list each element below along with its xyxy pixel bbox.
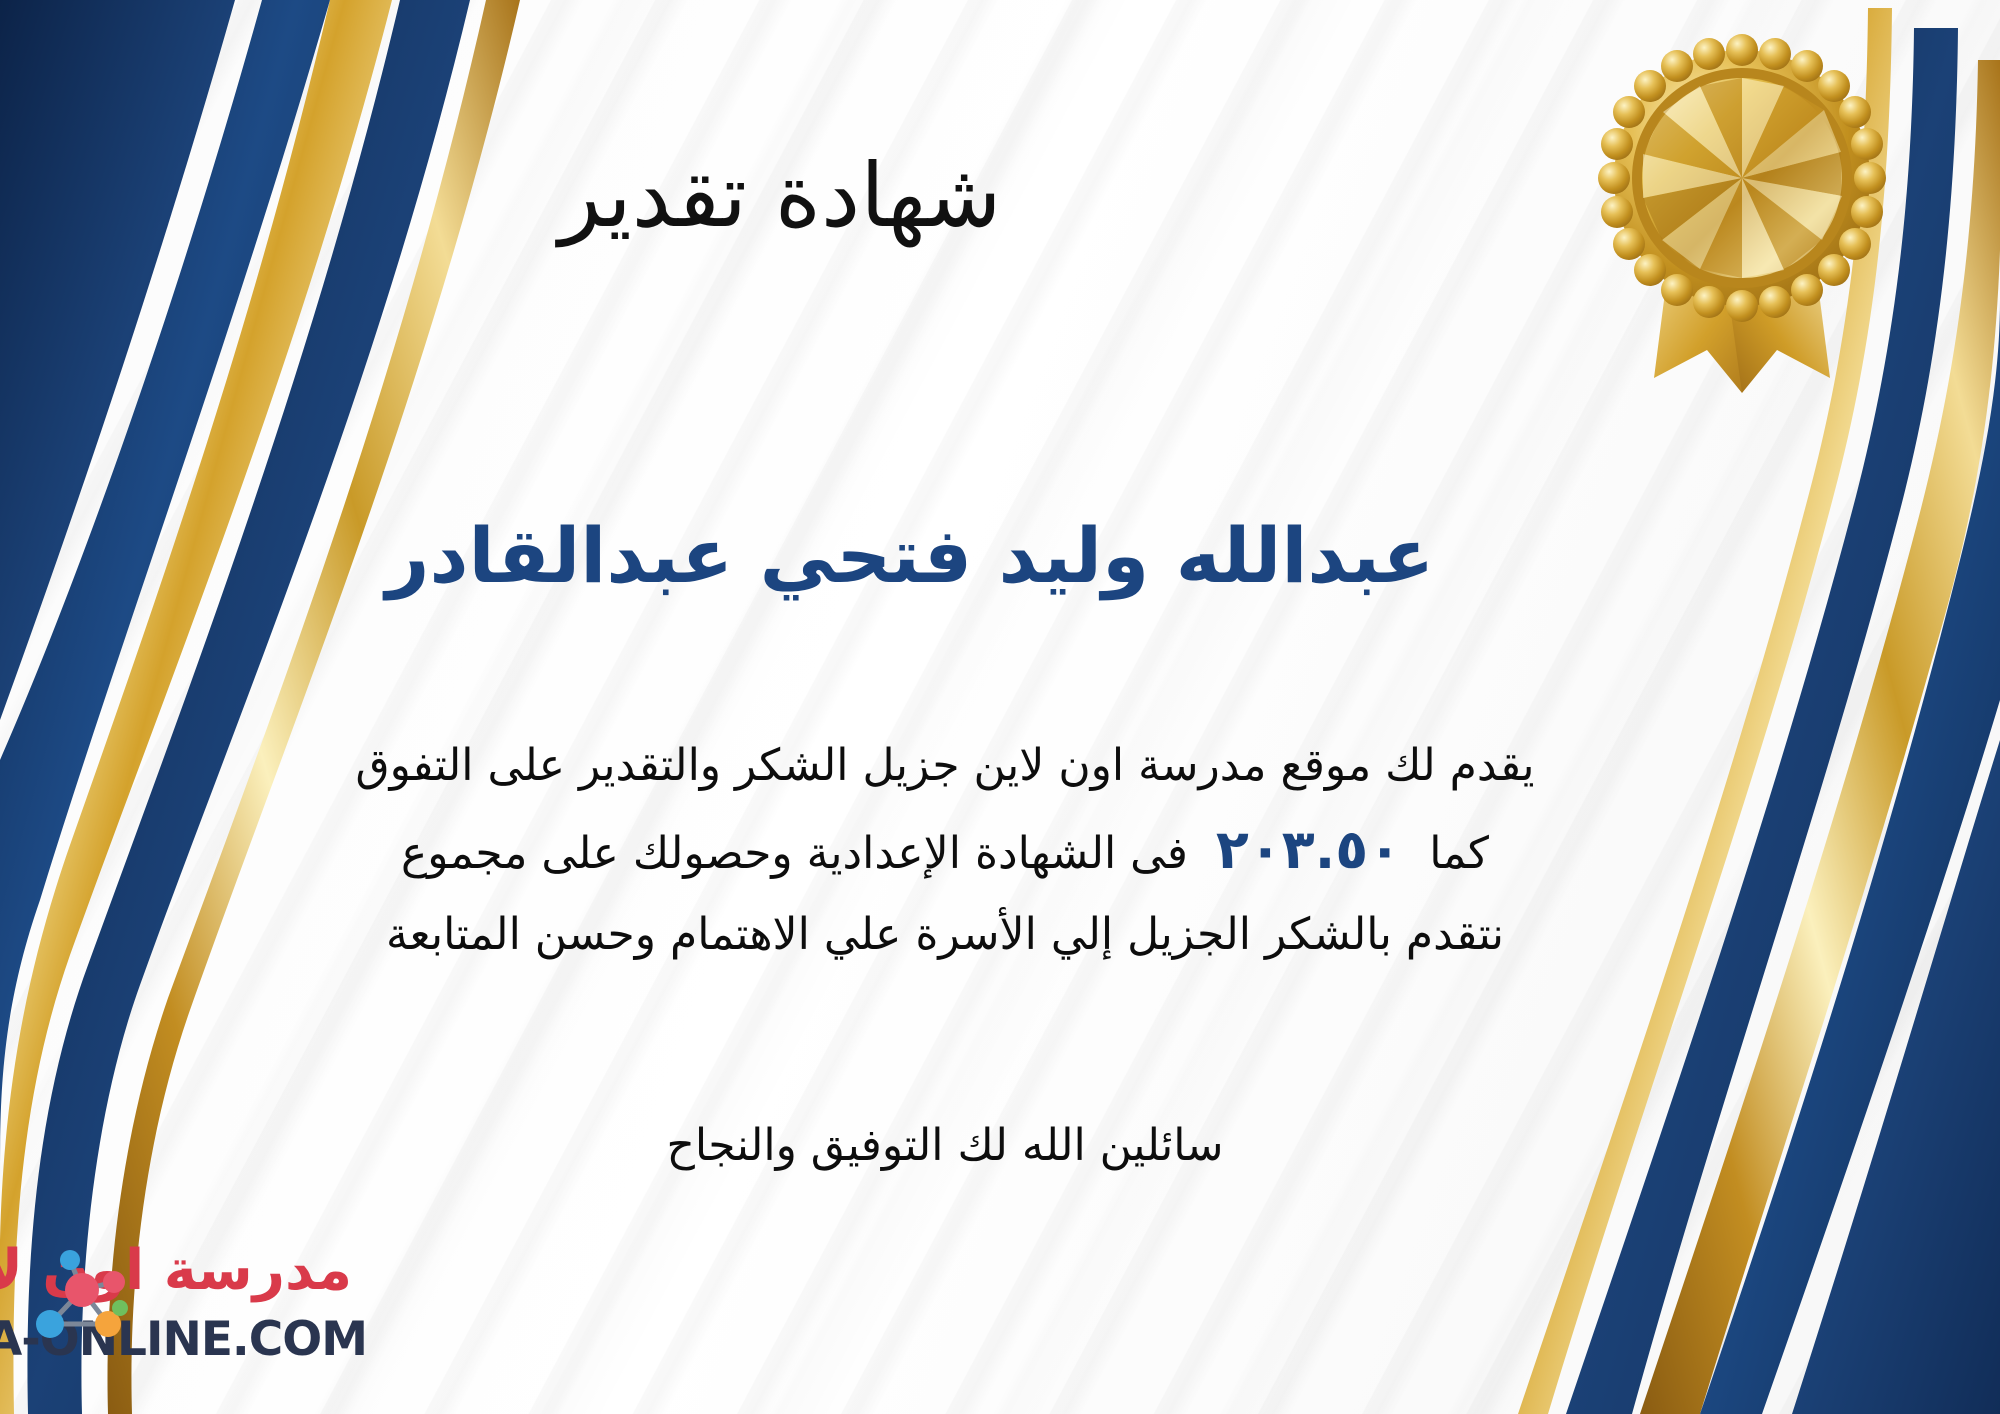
body-line-2-after: كما: [1429, 828, 1489, 879]
recipient-name: عبدالله وليد فتحي عبدالقادر: [200, 508, 1620, 603]
body-line-2: كما ٢٠٣.٥٠ فى الشهادة الإعدادية وحصولك ع…: [130, 804, 1760, 897]
certificate-body: يقدم لك موقع مدرسة اون لاين جزيل الشكر و…: [130, 728, 1760, 972]
body-line-2-before: فى الشهادة الإعدادية وحصولك على مجموع: [401, 828, 1188, 879]
body-line-3: نتقدم بالشكر الجزيل إلي الأسرة علي الاهت…: [130, 897, 1760, 973]
closing-line: سائلين الله لك التوفيق والنجاح: [130, 1120, 1760, 1171]
score-value: ٢٠٣.٥٠: [1202, 818, 1415, 881]
page-title: شهادة تقدير: [200, 148, 1360, 245]
network-nodes-icon: [22, 1246, 134, 1364]
certificate-canvas: شهادة تقدير عبدالله وليد فتحي عبدالقادر …: [0, 0, 2000, 1414]
brand-logo[interactable]: مدرسة اون لاين MADRSA-ONLINE.COM: [22, 1238, 462, 1388]
certificate-content: شهادة تقدير عبدالله وليد فتحي عبدالقادر …: [200, 0, 1810, 1414]
body-line-1: يقدم لك موقع مدرسة اون لاين جزيل الشكر و…: [130, 728, 1760, 804]
